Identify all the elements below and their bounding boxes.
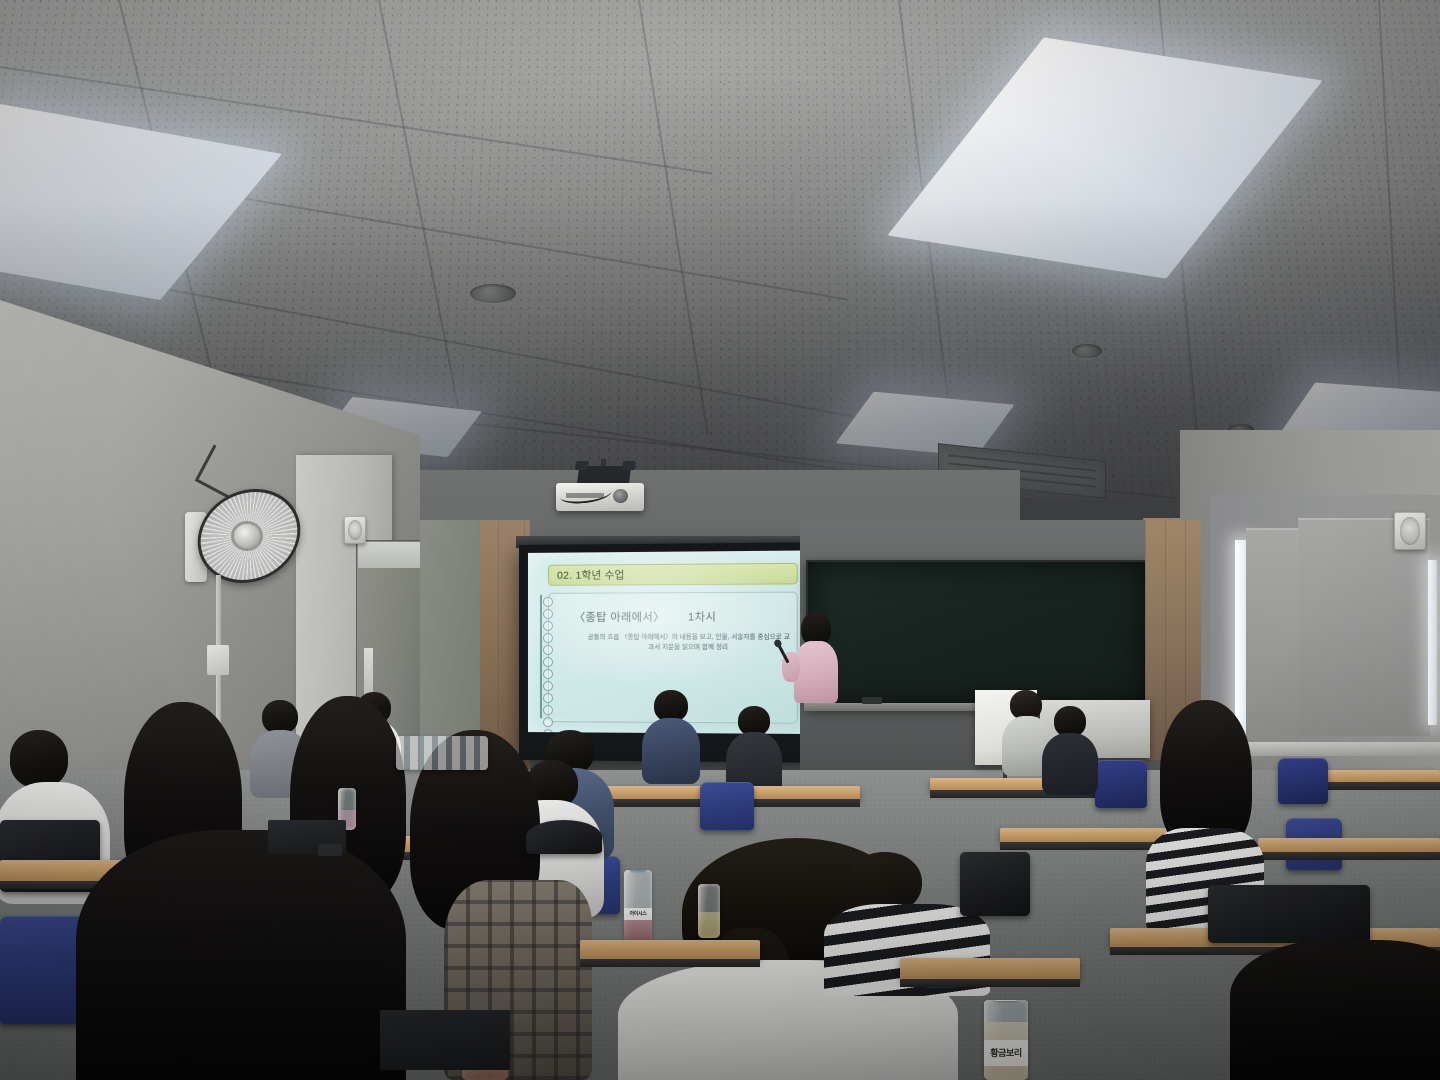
door-vision-panel [364, 648, 373, 696]
bottle-label: 황금보리 [984, 1040, 1028, 1066]
bottle-cap [630, 870, 646, 871]
laptop-foreground[interactable] [380, 1010, 510, 1070]
chair-center-2[interactable] [700, 782, 754, 830]
chair-right-2[interactable] [1278, 758, 1328, 804]
wall-speaker-right [1394, 512, 1426, 550]
chalkboard-eraser[interactable] [862, 697, 882, 704]
daylight-gap-right [1428, 560, 1437, 725]
presenter [786, 612, 846, 722]
desk-foreground-center [580, 940, 760, 960]
water-bottle-small-center[interactable] [698, 884, 720, 938]
bottle-cap [994, 1000, 1019, 1001]
lecture-hall-photo: 02. 1학년 수업 〈종탑 아래에서〉 1차시 공통의 흐름 〈종탑 아래에서… [0, 0, 1440, 1080]
presenter-torso [794, 641, 838, 703]
wall-speaker-left [344, 516, 366, 544]
backpack-right [1208, 885, 1370, 943]
speaker-cone-icon [1400, 517, 1421, 544]
bottle-liquid [698, 912, 720, 938]
foreground-student-silhouette-right [1230, 940, 1440, 1080]
chalkboard [806, 560, 1148, 709]
desk-right-row-4 [1258, 838, 1440, 853]
chair-right-1[interactable] [1095, 760, 1147, 808]
wall-mounted-fan[interactable] [197, 490, 301, 582]
water-bottle-case [396, 736, 488, 770]
bag-under-desk-right [960, 852, 1030, 916]
slide-title: 02. 1학년 수업 [548, 563, 798, 586]
student-right-back-2 [1042, 706, 1100, 798]
wall-junction-box [207, 645, 229, 675]
speaker-cone-icon [348, 520, 362, 540]
student-torso [1042, 733, 1098, 795]
door-transom-window [358, 542, 424, 568]
slide-spiral-binding-icon [540, 595, 554, 718]
student-head [10, 730, 68, 788]
water-bottle-right[interactable]: 황금보리 [984, 1000, 1028, 1080]
phone-left-desk[interactable] [318, 844, 342, 856]
backpack-center-foreground [526, 820, 602, 854]
student-torso [642, 718, 700, 784]
slide-heading-count: 1차시 [688, 608, 716, 624]
student-center-back-1 [640, 690, 702, 786]
slide-heading: 〈종탑 아래에서〉 [574, 611, 665, 623]
slide-body-text: 공통의 흐름 〈종탑 아래에서〉의 내용을 보고, 인물, 서술자를 중심으로 … [586, 633, 791, 653]
projector-lens-icon [613, 489, 628, 503]
desk-foreground-right [900, 958, 1080, 980]
bottle-label: 아이시스 [624, 908, 652, 920]
foreground-student-silhouette-left [76, 830, 406, 1080]
window-blind-right[interactable] [1298, 518, 1430, 736]
slide-heading-row: 〈종탑 아래에서〉 1차시 [574, 608, 665, 624]
